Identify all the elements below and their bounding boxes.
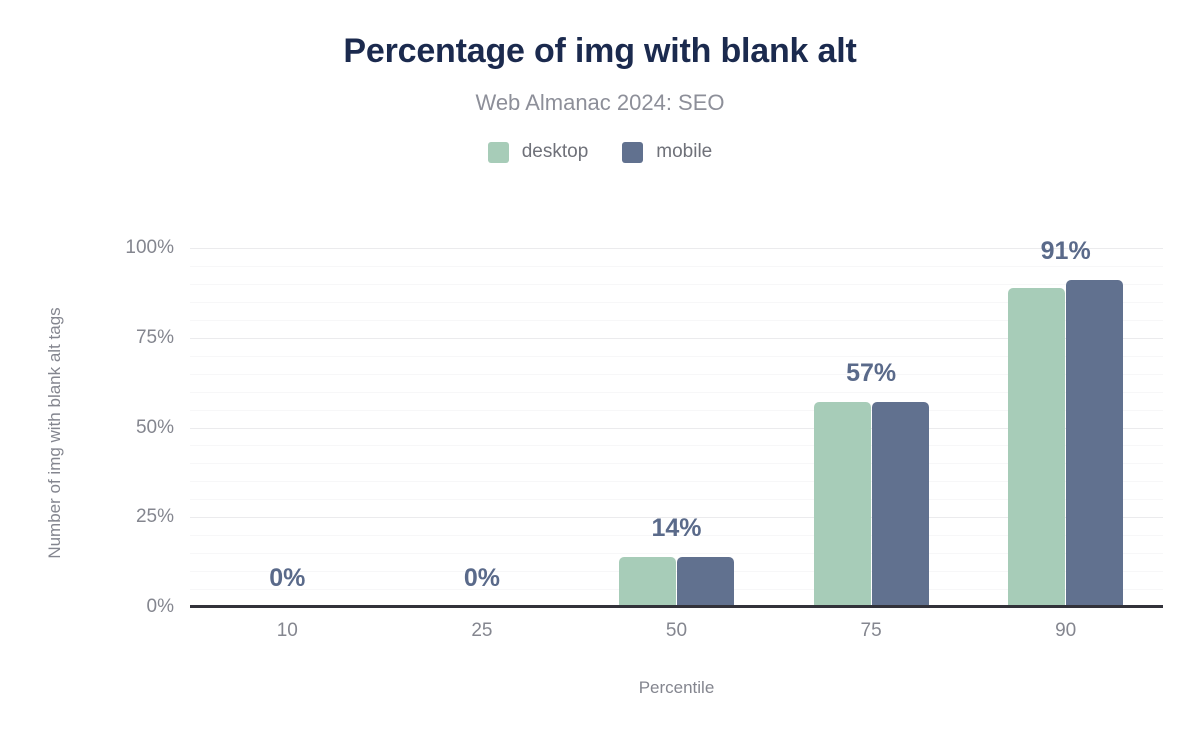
x-tick-label-90: 90 (968, 620, 1163, 642)
legend-label: mobile (656, 141, 712, 163)
bar-value-label-25: 0% (385, 564, 580, 593)
bar-desktop-75[interactable] (814, 402, 871, 607)
legend-item-mobile[interactable]: mobile (622, 141, 712, 163)
chart-legend: desktopmobile (0, 141, 1200, 163)
chart-title: Percentage of img with blank alt (0, 32, 1200, 71)
bar-value-label-90: 91% (968, 237, 1163, 266)
bar-mobile-75[interactable] (872, 402, 929, 607)
y-tick-label: 0% (54, 596, 174, 618)
bar-desktop-50[interactable] (619, 557, 676, 607)
bar-chart-figure: Percentage of img with blank alt Web Alm… (0, 0, 1200, 742)
x-tick-label-25: 25 (385, 620, 580, 642)
bar-group-75: 57% (774, 248, 969, 607)
y-tick-label: 100% (54, 237, 174, 259)
bar-group-90: 91% (968, 248, 1163, 607)
bar-group-25: 0% (385, 248, 580, 607)
bar-group-10: 0% (190, 248, 385, 607)
y-tick-label: 50% (54, 417, 174, 439)
chart-subtitle: Web Almanac 2024: SEO (0, 90, 1200, 116)
x-axis-line (190, 605, 1163, 608)
bar-group-50: 14% (579, 248, 774, 607)
x-tick-label-50: 50 (579, 620, 774, 642)
legend-label: desktop (522, 141, 589, 163)
bar-value-label-10: 0% (190, 564, 385, 593)
y-tick-label: 75% (54, 327, 174, 349)
legend-swatch-mobile (622, 142, 643, 163)
x-tick-label-10: 10 (190, 620, 385, 642)
bar-desktop-90[interactable] (1008, 288, 1065, 608)
legend-swatch-desktop (488, 142, 509, 163)
bar-mobile-90[interactable] (1066, 280, 1123, 607)
y-tick-label: 25% (54, 506, 174, 528)
bar-value-label-50: 14% (579, 514, 774, 543)
x-axis-title: Percentile (190, 678, 1163, 698)
x-tick-label-75: 75 (774, 620, 969, 642)
bar-value-label-75: 57% (774, 359, 969, 388)
legend-item-desktop[interactable]: desktop (488, 141, 589, 163)
bar-mobile-50[interactable] (677, 557, 734, 607)
plot-area: 0%0%14%57%91% (190, 248, 1163, 607)
